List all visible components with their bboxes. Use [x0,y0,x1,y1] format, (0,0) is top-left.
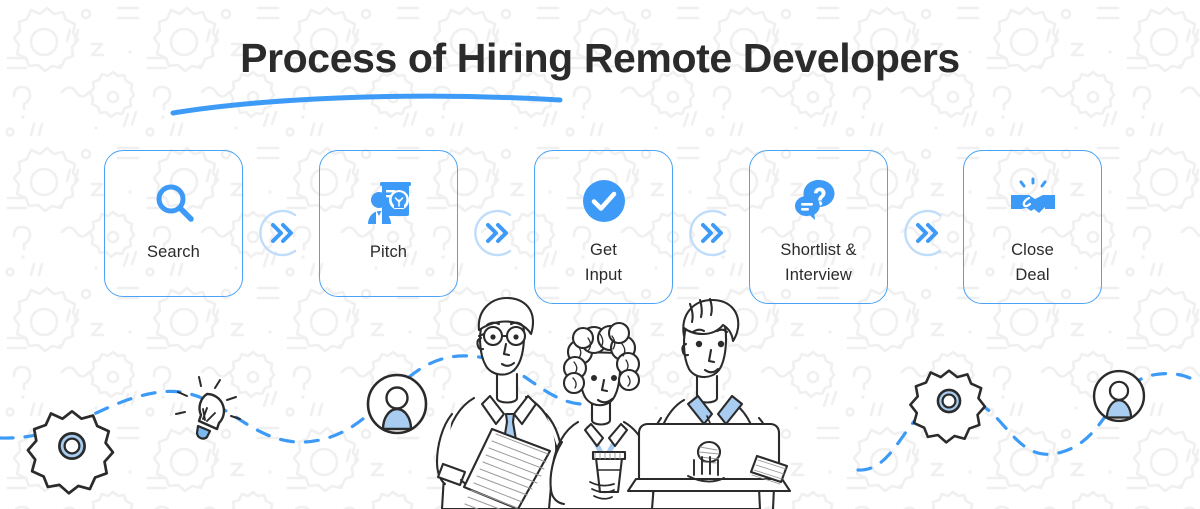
man-holding-laptop [628,299,790,509]
lightbulb-icon [176,377,240,439]
avatar-icon [368,375,426,433]
avatar-icon [1094,371,1144,421]
step-card-search[interactable]: Search [104,150,243,297]
magnifier-icon [150,179,198,227]
title-underline-swoosh [168,86,568,120]
double-chevron-right-icon [900,207,952,259]
step-card-close-deal[interactable]: Close Deal [963,150,1102,304]
check-circle-icon [580,177,628,225]
handshake-icon [1009,177,1057,225]
step-label: Get Input [585,238,622,288]
page-title: Process of Hiring Remote Developers [0,33,1200,83]
gear-icon [28,411,113,493]
infographic-canvas: Process of Hiring Remote Developers [0,0,1200,509]
double-chevron-right-icon [255,207,307,259]
process-steps-row: Search [0,150,1200,310]
step-label: Shortlist & Interview [780,238,856,288]
dashed-wave-line [0,356,1200,470]
step-label: Close Deal [1011,238,1054,288]
step-card-pitch[interactable]: Pitch [319,150,458,297]
title-block: Process of Hiring Remote Developers [0,33,1200,83]
double-chevron-right-icon [470,207,522,259]
step-card-shortlist-interview[interactable]: Shortlist & Interview [749,150,888,304]
double-chevron-right-icon [685,207,737,259]
woman-with-curly-hair-holding-coffee [549,323,655,509]
man-with-glasses-holding-folder [437,298,562,509]
step-label: Search [147,240,200,265]
chat-question-icon [795,177,843,225]
presentation-idea-icon [365,179,413,227]
step-label: Pitch [370,240,407,265]
step-card-get-input[interactable]: Get Input [534,150,673,304]
gear-icon [910,371,985,443]
